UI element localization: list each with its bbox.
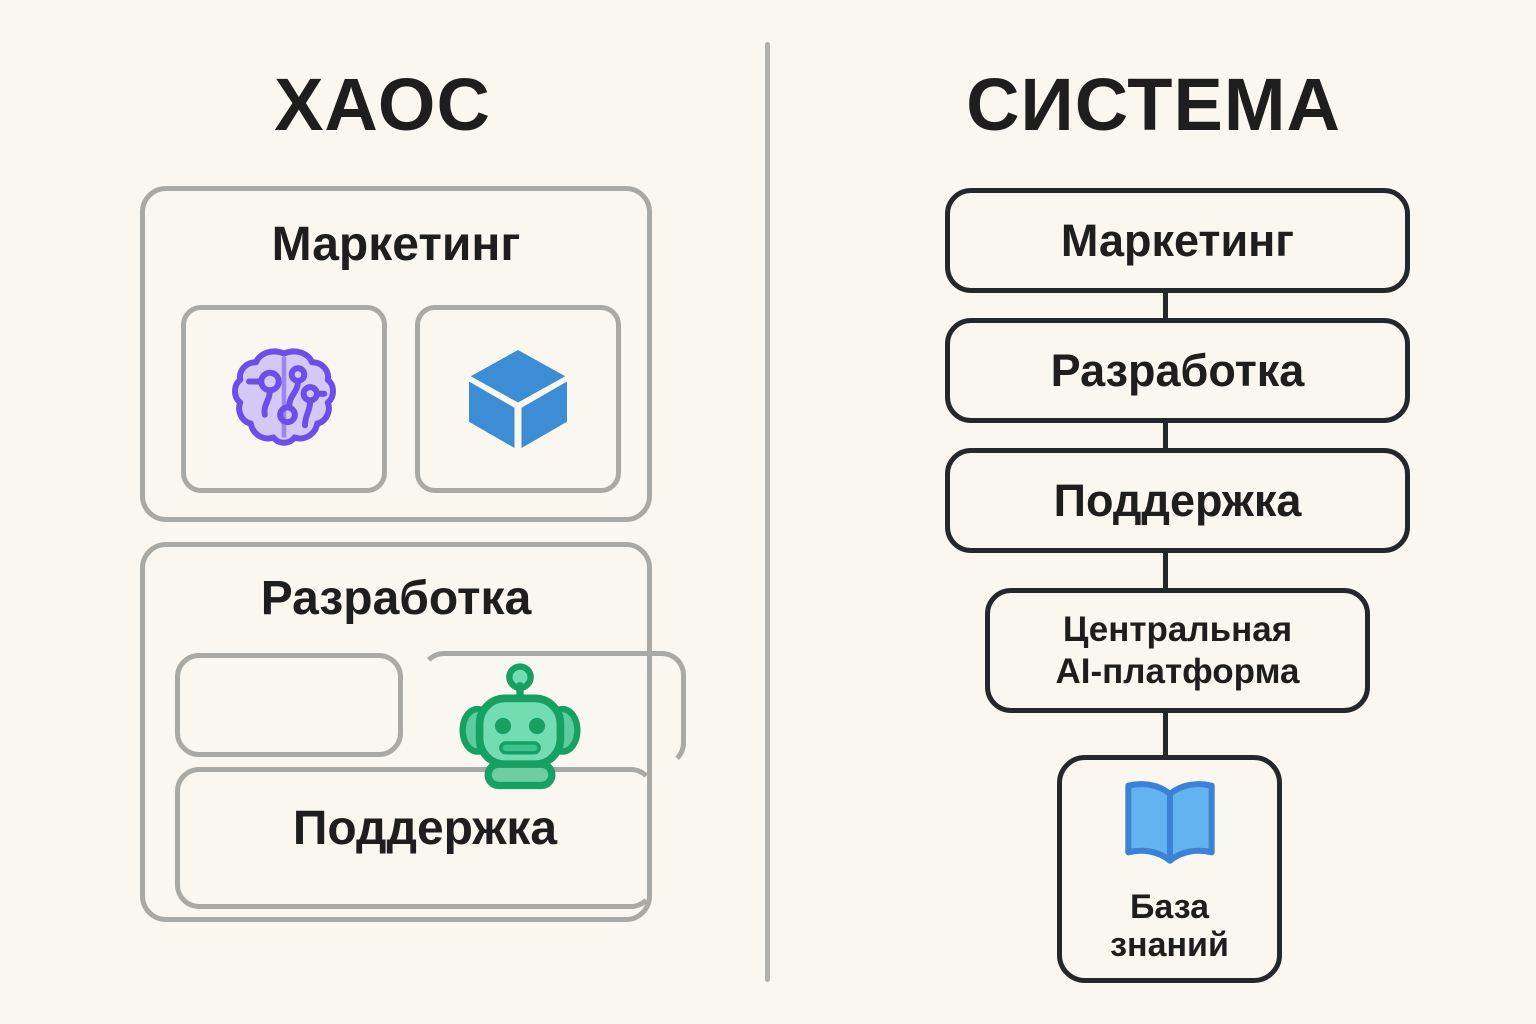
system-node-development-label: Разработка [1051, 345, 1305, 397]
chaos-title: ХАОС [0, 68, 765, 142]
chaos-support-overflow-label: Поддержка [175, 805, 675, 853]
chaos-slot-brain[interactable] [181, 305, 387, 493]
system-node-ai-platform[interactable]: Центральная AI-платформа [985, 588, 1370, 713]
connector-platform-knowledgebase [1163, 710, 1168, 760]
system-node-knowledge-base-label-line1: База [1110, 888, 1229, 926]
system-node-marketing[interactable]: Маркетинг [945, 188, 1410, 293]
system-node-ai-platform-label-line1: Центральная [1056, 609, 1300, 651]
chaos-slot-cube[interactable] [415, 305, 621, 493]
system-node-knowledge-base[interactable]: База знаний [1057, 755, 1282, 983]
chaos-slot-empty[interactable] [175, 653, 403, 757]
system-node-support-label: Поддержка [1054, 475, 1302, 527]
system-node-development[interactable]: Разработка [945, 318, 1410, 423]
system-title: СИСТЕМА [771, 68, 1536, 142]
chaos-card-development-label: Разработка [145, 575, 647, 623]
system-node-knowledge-base-label-line2: знаний [1110, 926, 1229, 964]
connector-support-platform [1163, 550, 1168, 592]
open-book-icon [1116, 774, 1224, 874]
diagram-canvas: ХАОС СИСТЕМА Маркетинг [0, 0, 1536, 1024]
center-divider [765, 42, 770, 982]
robot-icon [452, 658, 588, 794]
system-node-support[interactable]: Поддержка [945, 448, 1410, 553]
ai-brain-icon [228, 343, 340, 455]
system-node-ai-platform-label-line2: AI-платформа [1056, 651, 1300, 693]
chaos-card-marketing-label: Маркетинг [145, 221, 647, 269]
blue-cube-icon [462, 343, 574, 455]
robot-icon-holder [452, 658, 588, 794]
chaos-card-marketing[interactable]: Маркетинг [140, 186, 652, 522]
system-node-marketing-label: Маркетинг [1061, 215, 1294, 267]
